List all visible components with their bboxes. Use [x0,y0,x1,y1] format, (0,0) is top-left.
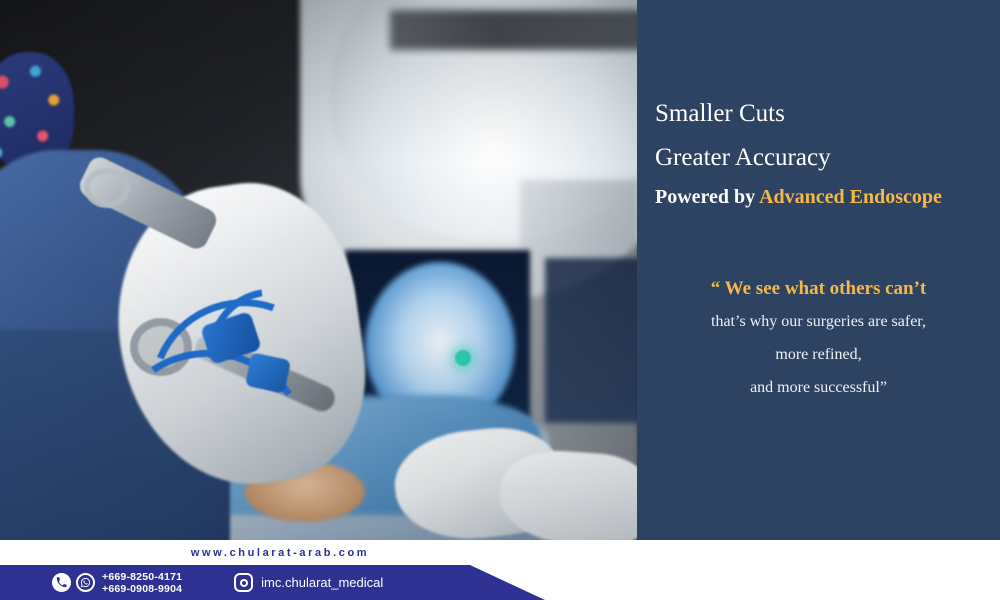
photo-assistant-hand-2 [497,447,637,540]
headline-line-1: Smaller Cuts [655,92,1000,136]
quote-line-2: that’s why our surgeries are safer, [637,308,1000,335]
phone-icon[interactable] [52,573,71,592]
instagram-icon-lens [240,579,248,587]
powered-by-accent: Advanced Endoscope [759,186,942,208]
photo-ceiling-band [390,10,637,50]
instagram-group[interactable]: imc.chularat_medical [234,573,383,592]
quote-open-mark: “ [711,278,721,299]
whatsapp-icon[interactable] [76,573,95,592]
quote-block: “ We see what others can’t that’s why ou… [637,276,1000,401]
message-panel: Smaller Cuts Greater Accuracy Powered by… [637,0,1000,540]
phone-numbers[interactable]: +669-8250-4171 +669-0908-9904 [102,571,182,595]
headline-block: Smaller Cuts Greater Accuracy Powered by… [655,92,1000,209]
quote-line-4: and more successful” [637,374,1000,401]
instagram-icon[interactable] [234,573,253,592]
photo-instrument-loop [84,168,130,208]
powered-by-prefix: Powered by [655,186,759,208]
photo-monitor-right [545,258,637,423]
quote-headline-text: We see what others can’t [725,278,927,299]
phone-number-2: +669-0908-9904 [102,583,182,595]
photo-indicator-light [455,350,471,366]
website-band: www.chularat-arab.com [0,540,560,566]
phone-number-1: +669-8250-4171 [102,571,182,583]
phone-contact-group[interactable]: +669-8250-4171 +669-0908-9904 [52,571,182,595]
headline-line-2: Greater Accuracy [655,136,1000,180]
powered-by-line: Powered by Advanced Endoscope [655,186,1000,209]
footer: www.chularat-arab.com +669-8250-4171 +66… [0,540,1000,600]
quote-headline: “ We see what others can’t [637,276,1000,302]
surgery-photo [0,0,637,540]
instagram-handle[interactable]: imc.chularat_medical [261,575,383,590]
quote-line-3: more refined, [637,341,1000,368]
website-url[interactable]: www.chularat-arab.com [191,547,369,559]
advertisement-banner: Smaller Cuts Greater Accuracy Powered by… [0,0,1000,600]
contact-bar-content: +669-8250-4171 +669-0908-9904 imc.chular… [0,565,470,600]
